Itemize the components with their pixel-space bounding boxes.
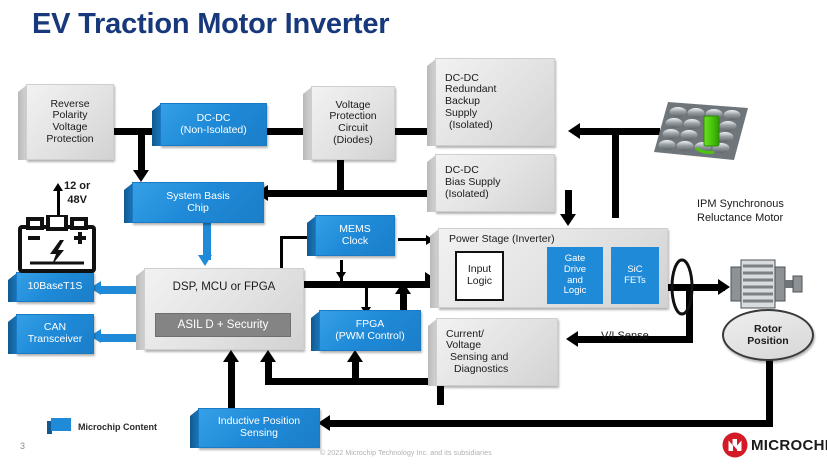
link-pack-branch-down <box>612 128 619 218</box>
link-mems-left <box>280 236 308 239</box>
copyright-text: © 2022 Microchip Technology Inc. and its… <box>320 450 492 457</box>
block-label-dsp: DSP, MCU or FPGA <box>173 281 276 294</box>
link-rotor-down <box>766 355 773 427</box>
line: Drive <box>564 265 586 276</box>
block-face: System Basis Chip <box>132 182 264 223</box>
arrow-up-rpvp <box>53 183 63 191</box>
block-face: Current/ Voltage Sensing and Diagnostics <box>436 318 558 386</box>
block-face: Reverse Polarity Voltage Protection <box>26 84 114 160</box>
block-face: DC-DC Redundant Backup Supply (Isolated) <box>435 58 555 146</box>
line: Diagnostics <box>446 364 508 376</box>
legend-label: Microchip Content <box>78 422 157 432</box>
line: Logic <box>467 276 492 288</box>
label-vi-sense: V/I Sense <box>601 330 649 344</box>
line: Supply <box>445 108 477 120</box>
arrow-down-mems-center <box>336 272 346 280</box>
line: Transceiver <box>28 334 82 346</box>
line: Sensing <box>240 428 278 440</box>
block-face: DC-DC (Non-Isolated) <box>160 103 267 146</box>
block-10baset1s[interactable]: 10BaseT1S <box>8 272 94 306</box>
line: (Isolated) <box>445 120 493 132</box>
block-fpga-pwm-control[interactable]: FPGA (PWM Control) <box>311 310 421 355</box>
link-cvs-to-fpga <box>352 360 359 382</box>
line: Logic <box>564 286 587 297</box>
arrow-down-bias <box>560 214 576 226</box>
sub-block-gate-drive-and-logic[interactable]: Gate Drive and Logic <box>547 247 603 304</box>
block-reverse-polarity-voltage-protection[interactable]: Reverse Polarity Voltage Protection <box>18 84 114 164</box>
line: Chip <box>187 203 209 215</box>
brand-name: MICROCHIP <box>751 437 827 454</box>
badge-asil-d-security: ASIL D + Security <box>155 313 291 337</box>
block-face: Power Stage (Inverter) Input Logic Gate … <box>438 228 668 308</box>
line: 10BaseT1S <box>28 281 83 293</box>
block-system-basis-chip[interactable]: System Basis Chip <box>124 182 264 227</box>
line: IPM Synchronous <box>697 198 784 212</box>
legend-swatch-icon <box>47 418 71 434</box>
block-face: DSP, MCU or FPGA ASIL D + Security <box>144 268 304 350</box>
battery-icon <box>14 215 100 273</box>
line: 12 or <box>64 180 90 194</box>
block-rotor-position[interactable]: Rotor Position <box>722 309 814 361</box>
label-ipm-motor-name: IPM Synchronous Reluctance Motor <box>697 198 784 226</box>
link-cvs-to-dsp <box>265 360 272 382</box>
line: Clock <box>342 236 368 248</box>
block-current-voltage-sensing-diagnostics[interactable]: Current/ Voltage Sensing and Diagnostics <box>428 318 558 390</box>
line: 48V <box>64 194 90 208</box>
arrow-left-redundant <box>568 123 580 139</box>
block-power-stage-inverter[interactable]: Power Stage (Inverter) Input Logic Gate … <box>430 228 668 312</box>
block-can-transceiver[interactable]: CAN Transceiver <box>8 314 94 358</box>
current-sensor-ring-icon <box>669 255 695 319</box>
line: DC-DC <box>197 113 231 125</box>
line: (Isolated) <box>445 189 489 201</box>
block-dcdc-bias-supply[interactable]: DC-DC Bias Supply (Isolated) <box>427 154 555 216</box>
link-bias-to-sbc <box>268 190 340 197</box>
link-vpc-down <box>337 160 344 194</box>
block-face: 10BaseT1S <box>16 272 94 302</box>
sub-block-input-logic[interactable]: Input Logic <box>455 251 504 301</box>
line: Rotor <box>754 323 782 335</box>
block-face: MEMS Clock <box>315 215 395 256</box>
line: (Diodes) <box>333 135 373 147</box>
arrow-left-sense <box>566 331 578 347</box>
link-trunk-down-sbc <box>138 128 145 176</box>
line: MEMS <box>339 224 371 236</box>
block-face: FPGA (PWM Control) <box>319 310 421 351</box>
block-dcdc-redundant-backup-supply[interactable]: DC-DC Redundant Backup Supply (Isolated) <box>427 58 555 150</box>
slide-canvas: EV Traction Motor Inverter <box>0 0 827 472</box>
link-ips-up <box>228 360 235 415</box>
line: Reluctance Motor <box>697 212 784 226</box>
line: (Non-Isolated) <box>180 125 247 137</box>
block-face: CAN Transceiver <box>16 314 94 354</box>
block-face: Voltage Protection Circuit (Diodes) <box>311 86 395 160</box>
line: System Basis <box>166 191 230 203</box>
sub-block-sic-fets[interactable]: SiC FETs <box>611 247 659 304</box>
line: FETs <box>624 276 646 287</box>
label-battery-voltage: 12 or 48V <box>64 180 90 208</box>
power-stage-title: Power Stage (Inverter) <box>449 234 555 246</box>
page-title: EV Traction Motor Inverter <box>32 8 389 41</box>
block-face: Inductive Position Sensing <box>198 408 320 448</box>
link-vpc-to-bias <box>337 190 435 197</box>
link-rotor-left <box>330 420 770 427</box>
block-mems-clock[interactable]: MEMS Clock <box>307 215 395 260</box>
line: FPGA <box>356 319 385 331</box>
line: Protection <box>46 134 93 146</box>
block-dsp-mcu-fpga[interactable]: DSP, MCU or FPGA ASIL D + Security <box>136 268 304 354</box>
block-face: DC-DC Bias Supply (Isolated) <box>435 154 555 212</box>
battery-pack-photo <box>652 98 748 162</box>
arrow-down-dsp-blue <box>198 255 212 266</box>
line: Position <box>747 335 788 347</box>
line: Circuit <box>338 123 368 135</box>
microchip-logo-icon <box>722 432 748 458</box>
line: SiC <box>627 265 642 276</box>
arrow-up-fpga <box>395 282 411 294</box>
link-pack-to-redundant <box>580 128 660 135</box>
line: Voltage <box>52 122 87 134</box>
line: (PWM Control) <box>335 331 404 343</box>
arrow-down-sbc <box>133 170 149 182</box>
page-number: 3 <box>20 441 25 451</box>
block-dcdc-non-isolated[interactable]: DC-DC (Non-Isolated) <box>152 103 267 150</box>
block-voltage-protection-circuit[interactable]: Voltage Protection Circuit (Diodes) <box>303 86 395 164</box>
block-inductive-position-sensing[interactable]: Inductive Position Sensing <box>190 408 320 452</box>
motor-icon <box>729 257 803 311</box>
line: Sensing and <box>446 352 508 364</box>
